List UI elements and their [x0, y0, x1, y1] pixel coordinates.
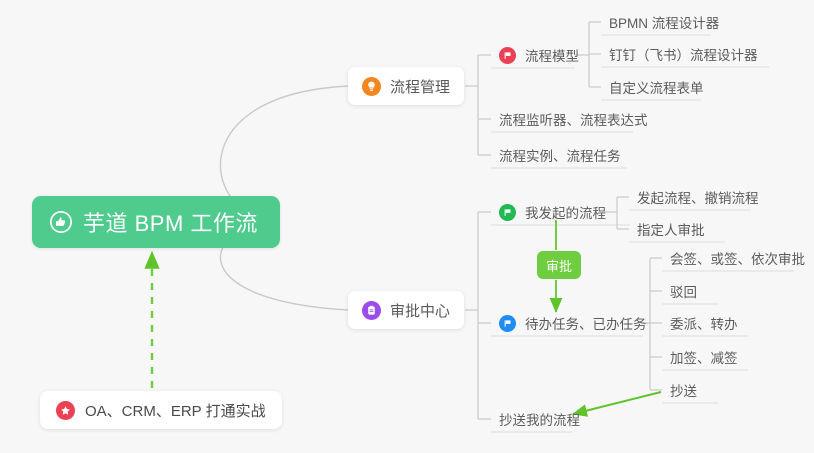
node-label: 自定义流程表单 [609, 77, 704, 97]
node-countersign-modes[interactable]: 会签、或签、依次审批 [662, 245, 812, 271]
callout-label: OA、CRM、ERP 打通实战 [85, 400, 266, 421]
node-process-listener[interactable]: 流程监听器、流程表达式 [491, 106, 655, 132]
node-label: 抄送 [670, 380, 697, 400]
node-label: 我发起的流程 [525, 202, 606, 222]
mindmap-canvas: 芋道 BPM 工作流 流程管理 流程模型 BPMN 流程设计器 钉钉（飞书）流程… [0, 0, 814, 453]
node-label: 驳回 [670, 281, 697, 301]
clipboard-icon [362, 301, 381, 320]
root-node[interactable]: 芋道 BPM 工作流 [32, 196, 280, 248]
node-add-remove-sign[interactable]: 加签、减签 [662, 344, 745, 370]
node-label: 发起流程、撤销流程 [637, 187, 759, 207]
root-label: 芋道 BPM 工作流 [83, 206, 258, 238]
flag-icon [499, 47, 516, 64]
branch-label: 流程管理 [390, 76, 450, 97]
callout-integration[interactable]: OA、CRM、ERP 打通实战 [40, 391, 282, 429]
node-assignee-approval[interactable]: 指定人审批 [629, 216, 712, 242]
node-delegate-transfer[interactable]: 委派、转办 [662, 310, 745, 336]
node-label: 流程实例、流程任务 [499, 145, 621, 165]
approval-annotation-pill: 审批 [537, 251, 581, 279]
thumbs-up-icon [50, 211, 72, 233]
branch-process-management[interactable]: 流程管理 [348, 67, 464, 105]
node-label: 流程监听器、流程表达式 [499, 109, 648, 129]
node-label: 指定人审批 [637, 219, 705, 239]
node-reject[interactable]: 驳回 [662, 278, 704, 304]
node-cc-my-process[interactable]: 抄送我的流程 [491, 406, 587, 432]
lightbulb-icon [362, 77, 381, 96]
node-custom-process-form[interactable]: 自定义流程表单 [601, 74, 711, 100]
node-label: 流程模型 [525, 45, 579, 65]
node-bpmn-designer[interactable]: BPMN 流程设计器 [601, 9, 726, 35]
flag-icon [499, 204, 516, 221]
node-label: 待办任务、已办任务 [525, 313, 647, 333]
node-label: 加签、减签 [670, 347, 738, 367]
node-label: 抄送我的流程 [499, 409, 580, 429]
node-label: 委派、转办 [670, 313, 738, 333]
flag-icon [499, 315, 516, 332]
node-label: BPMN 流程设计器 [609, 12, 719, 32]
node-label: 会签、或签、依次审批 [670, 248, 805, 268]
node-carbon-copy[interactable]: 抄送 [662, 377, 704, 403]
star-icon [56, 401, 75, 420]
node-todo-done-tasks[interactable]: 待办任务、已办任务 [491, 310, 654, 336]
node-dingtalk-feishu-designer[interactable]: 钉钉（飞书）流程设计器 [601, 41, 765, 67]
branch-label: 审批中心 [390, 300, 450, 321]
node-label: 钉钉（飞书）流程设计器 [609, 44, 758, 64]
node-start-cancel-process[interactable]: 发起流程、撤销流程 [629, 184, 766, 210]
pill-label: 审批 [546, 256, 572, 275]
node-my-initiated-process[interactable]: 我发起的流程 [491, 199, 613, 225]
node-process-model[interactable]: 流程模型 [491, 42, 586, 68]
node-process-instance[interactable]: 流程实例、流程任务 [491, 142, 628, 168]
branch-approval-center[interactable]: 审批中心 [348, 291, 464, 329]
